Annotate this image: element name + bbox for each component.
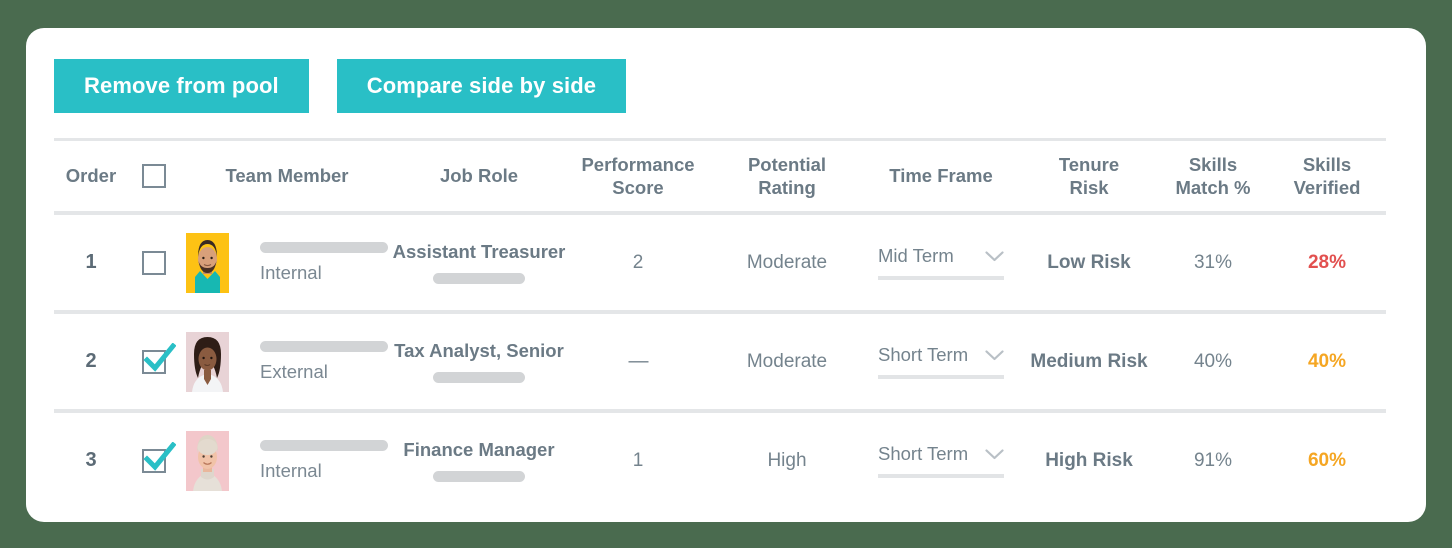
header-performance-score-line1: Performance: [581, 154, 694, 175]
row-performance-score: 2: [564, 252, 712, 274]
tenure-risk-value: Low Risk: [1047, 252, 1130, 273]
performance-score-value: 2: [633, 252, 644, 273]
skills-match-value: 31%: [1194, 252, 1232, 273]
row-select-cell: [128, 350, 180, 374]
table-body: 1InternalAssistant Treasurer2ModerateMid…: [54, 215, 1386, 508]
member-type: Internal: [260, 262, 388, 284]
header-tenure-risk-line2: Risk: [1069, 177, 1108, 198]
table-header-row: Order Team Member Job Role Performance S…: [54, 141, 1386, 211]
avatar-photo: [186, 431, 229, 491]
job-role-wrap: Assistant Treasurer: [394, 241, 564, 284]
row-performance-score: 1: [564, 450, 712, 472]
row-skills-verified: 28%: [1268, 252, 1386, 274]
order-number: 2: [85, 350, 96, 372]
time-frame-dropdown[interactable]: Short Term: [878, 344, 1004, 379]
job-role-sub-redacted: [433, 273, 525, 284]
row-potential-rating: Moderate: [712, 252, 862, 274]
remove-from-pool-button[interactable]: Remove from pool: [54, 59, 309, 113]
job-role-wrap: Tax Analyst, Senior: [394, 340, 564, 383]
chevron-down-icon: [985, 350, 1004, 361]
time-frame-value: Mid Term: [878, 245, 954, 267]
row-tenure-risk: Medium Risk: [1020, 351, 1158, 373]
row-select-checkbox[interactable]: [142, 251, 166, 275]
avatar: [186, 332, 229, 392]
avatar-photo: [186, 233, 229, 293]
row-skills-verified: 60%: [1268, 450, 1386, 472]
row-select-cell: [128, 449, 180, 473]
time-frame-dropdown[interactable]: Mid Term: [878, 245, 1004, 280]
member-text: Internal: [260, 242, 388, 284]
row-order: 2: [54, 350, 128, 373]
table-row[interactable]: 3InternalFinance Manager1HighShort TermH…: [54, 413, 1386, 508]
time-frame-dropdown[interactable]: Short Term: [878, 443, 1004, 478]
job-role-sub-redacted: [433, 372, 525, 383]
tenure-risk-value: High Risk: [1045, 450, 1133, 471]
row-time-frame: Mid Term: [862, 245, 1020, 280]
row-tenure-risk: High Risk: [1020, 450, 1158, 472]
row-team-member: Internal: [180, 233, 394, 293]
potential-rating-value: Moderate: [747, 351, 827, 372]
talent-pool-card: Remove from pool Compare side by side Or…: [26, 28, 1426, 522]
row-potential-rating: High: [712, 450, 862, 472]
header-job-role: Job Role: [394, 164, 564, 187]
member-type: Internal: [260, 460, 388, 482]
header-performance-score: Performance Score: [564, 153, 712, 199]
skills-match-value: 40%: [1194, 351, 1232, 372]
performance-score-value: 1: [633, 450, 644, 471]
header-skills-match-line1: Skills: [1189, 154, 1237, 175]
header-order: Order: [54, 164, 128, 187]
header-potential-rating-line1: Potential: [748, 154, 826, 175]
row-tenure-risk: Low Risk: [1020, 252, 1158, 274]
chevron-down-icon: [985, 251, 1004, 262]
row-order: 3: [54, 449, 128, 472]
header-potential-rating: Potential Rating: [712, 153, 862, 199]
job-role-title: Finance Manager: [403, 439, 554, 461]
header-skills-verified-line1: Skills: [1303, 154, 1351, 175]
chevron-down-icon: [985, 449, 1004, 460]
row-team-member: Internal: [180, 431, 394, 491]
action-toolbar: Remove from pool Compare side by side: [54, 59, 626, 113]
row-job-role: Finance Manager: [394, 439, 564, 482]
avatar-photo: [186, 332, 229, 392]
row-skills-match: 40%: [1158, 351, 1268, 373]
potential-rating-value: Moderate: [747, 252, 827, 273]
tenure-risk-value: Medium Risk: [1030, 351, 1147, 372]
row-select-cell: [128, 251, 180, 275]
header-performance-score-line2: Score: [612, 177, 663, 198]
performance-score-value: —: [629, 350, 648, 372]
job-role-wrap: Finance Manager: [394, 439, 564, 482]
header-skills-verified-line2: Verified: [1294, 177, 1361, 198]
member-type: External: [260, 361, 388, 383]
avatar: [186, 233, 229, 293]
time-frame-value: Short Term: [878, 344, 968, 366]
row-order: 1: [54, 251, 128, 274]
checkmark-icon: [142, 442, 176, 476]
job-role-sub-redacted: [433, 471, 525, 482]
header-tenure-risk: Tenure Risk: [1020, 153, 1158, 199]
avatar: [186, 431, 229, 491]
header-tenure-risk-line1: Tenure: [1059, 154, 1119, 175]
row-team-member: External: [180, 332, 394, 392]
header-team-member: Team Member: [180, 164, 394, 187]
potential-rating-value: High: [767, 450, 806, 471]
row-skills-match: 91%: [1158, 450, 1268, 472]
row-time-frame: Short Term: [862, 443, 1020, 478]
order-number: 3: [85, 449, 96, 471]
compare-side-by-side-button[interactable]: Compare side by side: [337, 59, 626, 113]
select-all-checkbox[interactable]: [142, 164, 166, 188]
row-skills-verified: 40%: [1268, 351, 1386, 373]
member-name-redacted: [260, 242, 388, 253]
header-potential-rating-line2: Rating: [758, 177, 816, 198]
job-role-title: Assistant Treasurer: [393, 241, 566, 263]
header-skills-match: Skills Match %: [1158, 153, 1268, 199]
member-text: Internal: [260, 440, 388, 482]
talent-table: Order Team Member Job Role Performance S…: [54, 138, 1386, 508]
header-skills-match-line2: Match %: [1175, 177, 1250, 198]
time-frame-value: Short Term: [878, 443, 968, 465]
skills-match-value: 91%: [1194, 450, 1232, 471]
job-role-title: Tax Analyst, Senior: [394, 340, 564, 362]
row-job-role: Assistant Treasurer: [394, 241, 564, 284]
table-row[interactable]: 1InternalAssistant Treasurer2ModerateMid…: [54, 215, 1386, 310]
skills-verified-value: 28%: [1308, 252, 1346, 273]
header-select-all-cell: [128, 164, 180, 188]
header-skills-verified: Skills Verified: [1268, 153, 1386, 199]
member-name-redacted: [260, 341, 388, 352]
header-time-frame: Time Frame: [862, 164, 1020, 187]
skills-verified-value: 60%: [1308, 450, 1346, 471]
checkmark-icon: [142, 343, 176, 377]
member-name-redacted: [260, 440, 388, 451]
row-select-checkbox[interactable]: [142, 350, 166, 374]
row-potential-rating: Moderate: [712, 351, 862, 373]
row-performance-score: —: [564, 350, 712, 373]
row-time-frame: Short Term: [862, 344, 1020, 379]
row-job-role: Tax Analyst, Senior: [394, 340, 564, 383]
skills-verified-value: 40%: [1308, 351, 1346, 372]
member-text: External: [260, 341, 388, 383]
order-number: 1: [85, 251, 96, 273]
row-select-checkbox[interactable]: [142, 449, 166, 473]
table-row[interactable]: 2ExternalTax Analyst, Senior—ModerateSho…: [54, 314, 1386, 409]
row-skills-match: 31%: [1158, 252, 1268, 274]
